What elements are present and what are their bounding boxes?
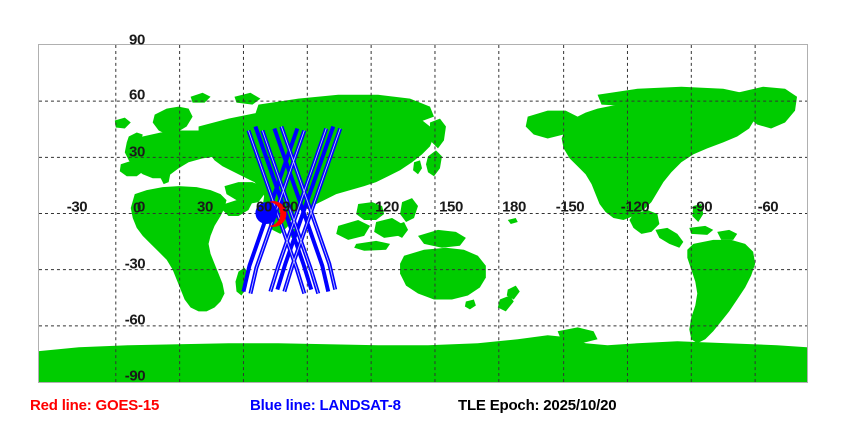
lon-tick-180: 180 <box>502 200 526 215</box>
lat-tick-60: 60 <box>129 88 145 103</box>
legend-entry-goes15: Red line: GOES-15 <box>30 396 159 416</box>
lon-tick--60: -60 <box>758 200 778 215</box>
lon-tick-150: 150 <box>439 200 463 215</box>
lon-tick-60: 60 <box>256 200 272 215</box>
lon-tick--30: -30 <box>67 200 87 215</box>
lon-tick--120: -120 <box>621 200 649 215</box>
lon-tick-90: 90 <box>282 200 298 215</box>
legend-entry-tle-epoch: TLE Epoch: 2025/10/20 <box>458 396 616 416</box>
lon-tick-120: 120 <box>375 200 399 215</box>
lat-tick--30: -30 <box>125 257 145 272</box>
lon-tick--150: -150 <box>556 200 584 215</box>
map-legend: Red line: GOES-15 Blue line: LANDSAT-8 T… <box>0 396 850 420</box>
lat-tick--90: -90 <box>125 369 145 384</box>
lat-tick--60: -60 <box>125 313 145 328</box>
lat-tick-30: 30 <box>129 145 145 160</box>
lon-tick--90: -90 <box>692 200 712 215</box>
legend-entry-landsat8: Blue line: LANDSAT-8 <box>250 396 401 416</box>
figure-canvas: -30 0 30 60 90 120 150 180 -150 -120 -90… <box>0 0 850 425</box>
lat-tick-0: 0 <box>133 201 141 216</box>
lat-tick-90: 90 <box>129 33 145 48</box>
lon-tick-30: 30 <box>197 200 213 215</box>
